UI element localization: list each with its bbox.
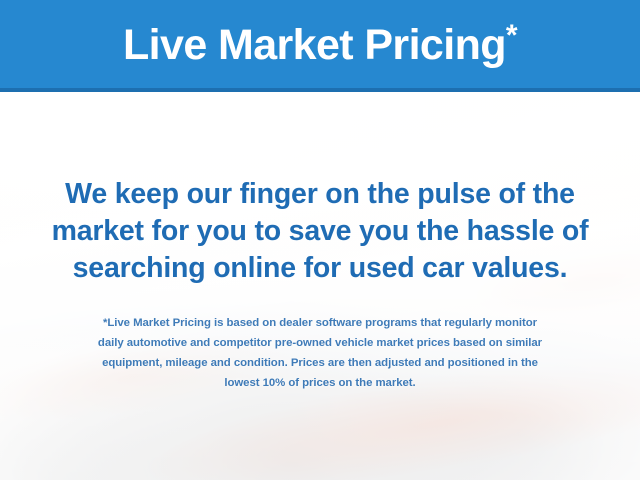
header-bottom-rule: [0, 88, 640, 92]
page-title: Live Market Pricing*: [123, 21, 517, 70]
live-market-pricing-banner: Live Market Pricing* We keep our finger …: [0, 0, 640, 480]
header-banner: Live Market Pricing*: [0, 0, 640, 90]
headline-line-1: We keep our finger on the pulse of the: [0, 176, 640, 213]
headline-copy: We keep our finger on the pulse of the m…: [0, 176, 640, 287]
fine-print-line-3: equipment, mileage and condition. Prices…: [0, 353, 640, 373]
headline-line-2: market for you to save you the hassle of: [0, 213, 640, 250]
page-title-text: Live Market Pricing: [123, 21, 506, 69]
fine-print-line-4: lowest 10% of prices on the market.: [0, 373, 640, 393]
disclaimer-fine-print: *Live Market Pricing is based on dealer …: [0, 313, 640, 393]
page-title-asterisk: *: [506, 19, 517, 52]
headline-line-3: searching online for used car values.: [0, 250, 640, 287]
fine-print-line-1: *Live Market Pricing is based on dealer …: [0, 313, 640, 333]
fine-print-line-2: daily automotive and competitor pre-owne…: [0, 333, 640, 353]
